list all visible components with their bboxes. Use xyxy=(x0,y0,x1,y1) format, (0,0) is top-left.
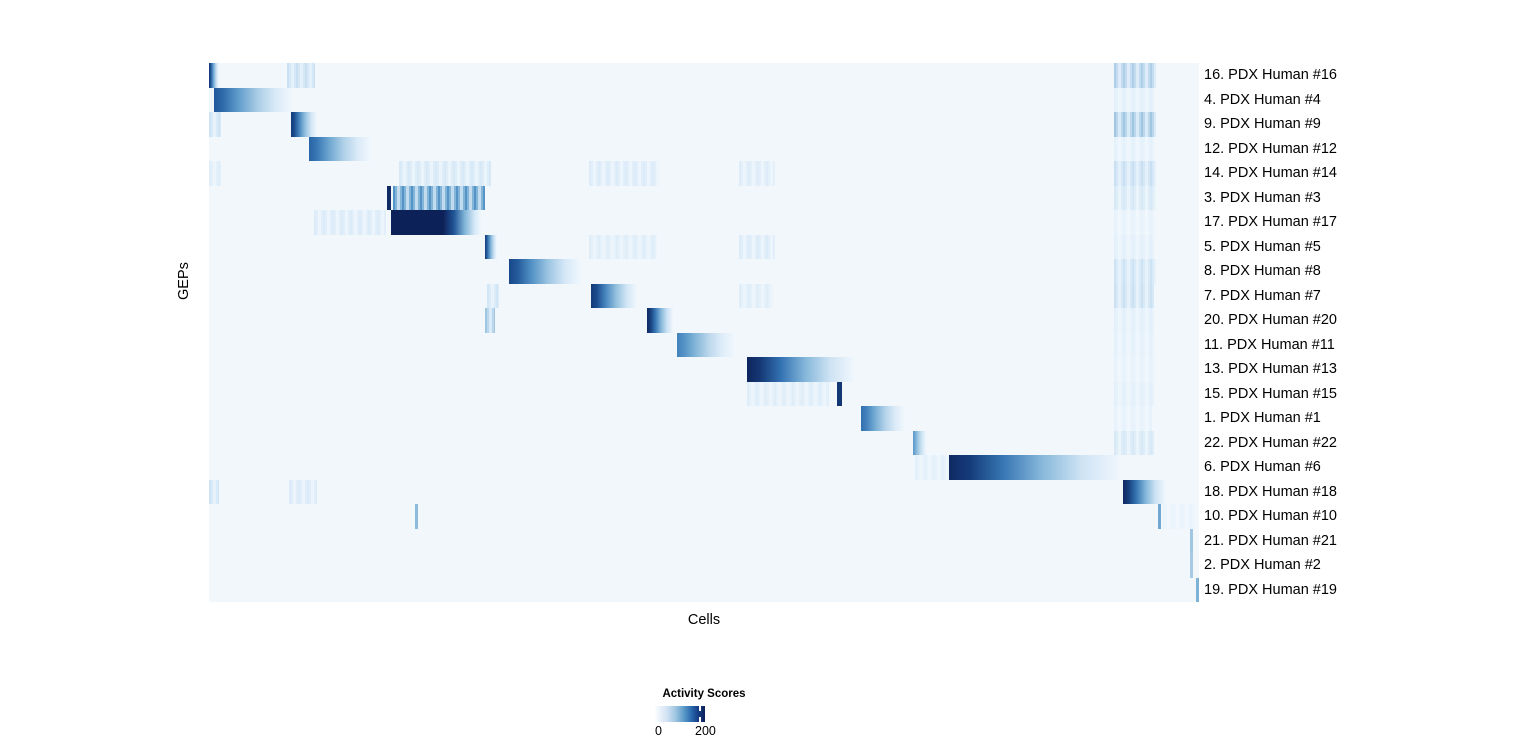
heatmap-band xyxy=(209,63,219,88)
heatmap-band xyxy=(415,504,418,529)
heatmap-row-label: 19. PDX Human #19 xyxy=(1204,578,1337,603)
heatmap-row xyxy=(209,553,1199,578)
heatmap-row-label: 6. PDX Human #6 xyxy=(1204,455,1321,480)
y-axis-label: GEPs xyxy=(176,262,192,300)
heatmap-band xyxy=(1114,161,1156,186)
heatmap-band xyxy=(1114,308,1154,333)
heatmap-band xyxy=(214,88,292,113)
heatmap-row xyxy=(209,529,1199,554)
heatmap-row xyxy=(209,161,1199,186)
heatmap-band xyxy=(1114,259,1156,284)
heatmap-band xyxy=(1114,186,1156,211)
heatmap-band xyxy=(739,284,773,309)
heatmap-row-label: 12. PDX Human #12 xyxy=(1204,137,1337,162)
heatmap-row-label: 3. PDX Human #3 xyxy=(1204,186,1321,211)
heatmap-row-labels: 16. PDX Human #164. PDX Human #49. PDX H… xyxy=(1204,63,1454,602)
heatmap-row-label: 5. PDX Human #5 xyxy=(1204,235,1321,260)
heatmap-band xyxy=(393,186,485,211)
heatmap-band xyxy=(1114,88,1154,113)
heatmap-band xyxy=(1114,112,1156,137)
heatmap-band xyxy=(487,284,499,309)
heatmap-row-label: 20. PDX Human #20 xyxy=(1204,308,1337,333)
heatmap-band xyxy=(1114,137,1154,162)
heatmap-band xyxy=(209,112,221,137)
heatmap-band xyxy=(1158,504,1161,529)
heatmap-band xyxy=(1114,431,1154,456)
heatmap-band xyxy=(677,333,735,358)
heatmap-row-label: 15. PDX Human #15 xyxy=(1204,382,1337,407)
colorbar-tick-label: 0 xyxy=(655,724,662,738)
heatmap-band xyxy=(1114,406,1152,431)
heatmap-band xyxy=(589,161,659,186)
heatmap-row xyxy=(209,480,1199,505)
heatmap-row-label: 18. PDX Human #18 xyxy=(1204,480,1337,505)
heatmap-band xyxy=(291,112,317,137)
heatmap-row xyxy=(209,112,1199,137)
heatmap-band xyxy=(739,235,775,260)
heatmap-band xyxy=(591,284,637,309)
heatmap-row xyxy=(209,406,1199,431)
heatmap-row-label: 14. PDX Human #14 xyxy=(1204,161,1337,186)
heatmap-row-label: 7. PDX Human #7 xyxy=(1204,284,1321,309)
heatmap-row-label: 9. PDX Human #9 xyxy=(1204,112,1321,137)
colorbar-tick-top xyxy=(699,706,701,711)
heatmap-band xyxy=(1190,529,1193,554)
heatmap-band xyxy=(739,161,775,186)
heatmap-row-label: 21. PDX Human #21 xyxy=(1204,529,1337,554)
x-axis-label: Cells xyxy=(209,612,1199,628)
heatmap-row xyxy=(209,504,1199,529)
heatmap-band xyxy=(509,259,581,284)
heatmap-band xyxy=(1163,504,1197,529)
heatmap-band xyxy=(1114,333,1154,358)
colorbar-gradient-wrap xyxy=(655,706,705,722)
heatmap-band xyxy=(1114,63,1156,88)
heatmap-row-label: 17. PDX Human #17 xyxy=(1204,210,1337,235)
heatmap-band xyxy=(1114,284,1154,309)
heatmap-row xyxy=(209,88,1199,113)
colorbar-tick-labels: 0200 xyxy=(655,724,775,740)
heatmap-band xyxy=(949,455,1119,480)
heatmap-band xyxy=(861,406,905,431)
heatmap-row-label: 4. PDX Human #4 xyxy=(1204,88,1321,113)
heatmap-row xyxy=(209,333,1199,358)
heatmap-band xyxy=(647,308,673,333)
heatmap-row xyxy=(209,63,1199,88)
heatmap-band xyxy=(209,161,221,186)
heatmap-band xyxy=(1190,553,1193,578)
heatmap-band xyxy=(589,235,657,260)
heatmap-row xyxy=(209,284,1199,309)
heatmap-row xyxy=(209,137,1199,162)
heatmap-band xyxy=(399,161,491,186)
colorbar-legend: Activity Scores 0200 xyxy=(600,688,810,740)
heatmap-plot-area xyxy=(209,63,1199,602)
heatmap-row-label: 2. PDX Human #2 xyxy=(1204,553,1321,578)
heatmap-band xyxy=(287,63,315,88)
heatmap-row-label: 10. PDX Human #10 xyxy=(1204,504,1337,529)
heatmap-row xyxy=(209,235,1199,260)
heatmap-row xyxy=(209,210,1199,235)
heatmap-band xyxy=(387,186,391,211)
heatmap-band xyxy=(309,137,371,162)
heatmap-row-label: 13. PDX Human #13 xyxy=(1204,357,1337,382)
colorbar-tick-bottom xyxy=(699,717,701,722)
heatmap-band xyxy=(915,455,949,480)
heatmap-band xyxy=(837,382,842,407)
heatmap-band xyxy=(1114,357,1154,382)
heatmap-row xyxy=(209,259,1199,284)
heatmap-band xyxy=(1196,578,1199,603)
heatmap-row-label: 8. PDX Human #8 xyxy=(1204,259,1321,284)
heatmap-band xyxy=(747,357,853,382)
heatmap-band xyxy=(314,210,386,235)
heatmap-row-label: 1. PDX Human #1 xyxy=(1204,406,1321,431)
heatmap-band xyxy=(1114,210,1154,235)
heatmap-row-label: 11. PDX Human #11 xyxy=(1204,333,1335,358)
heatmap-band xyxy=(1114,382,1154,407)
colorbar-gradient xyxy=(655,706,705,722)
heatmap-row xyxy=(209,455,1199,480)
heatmap-row xyxy=(209,382,1199,407)
heatmap-band xyxy=(485,308,495,333)
heatmap-band xyxy=(485,235,497,260)
heatmap-row-label: 22. PDX Human #22 xyxy=(1204,431,1337,456)
heatmap-band xyxy=(1123,480,1165,505)
colorbar-title: Activity Scores xyxy=(600,688,808,700)
heatmap-row xyxy=(209,578,1199,603)
heatmap-band xyxy=(747,382,829,407)
heatmap-band xyxy=(289,480,317,505)
heatmap-row xyxy=(209,308,1199,333)
heatmap-band xyxy=(391,210,481,235)
heatmap-row xyxy=(209,431,1199,456)
heatmap-row xyxy=(209,186,1199,211)
colorbar-tick-label: 200 xyxy=(695,724,716,738)
heatmap-row-label: 16. PDX Human #16 xyxy=(1204,63,1337,88)
heatmap-row xyxy=(209,357,1199,382)
heatmap-band xyxy=(1114,235,1154,260)
heatmap-band xyxy=(913,431,927,456)
heatmap-band xyxy=(209,480,219,505)
